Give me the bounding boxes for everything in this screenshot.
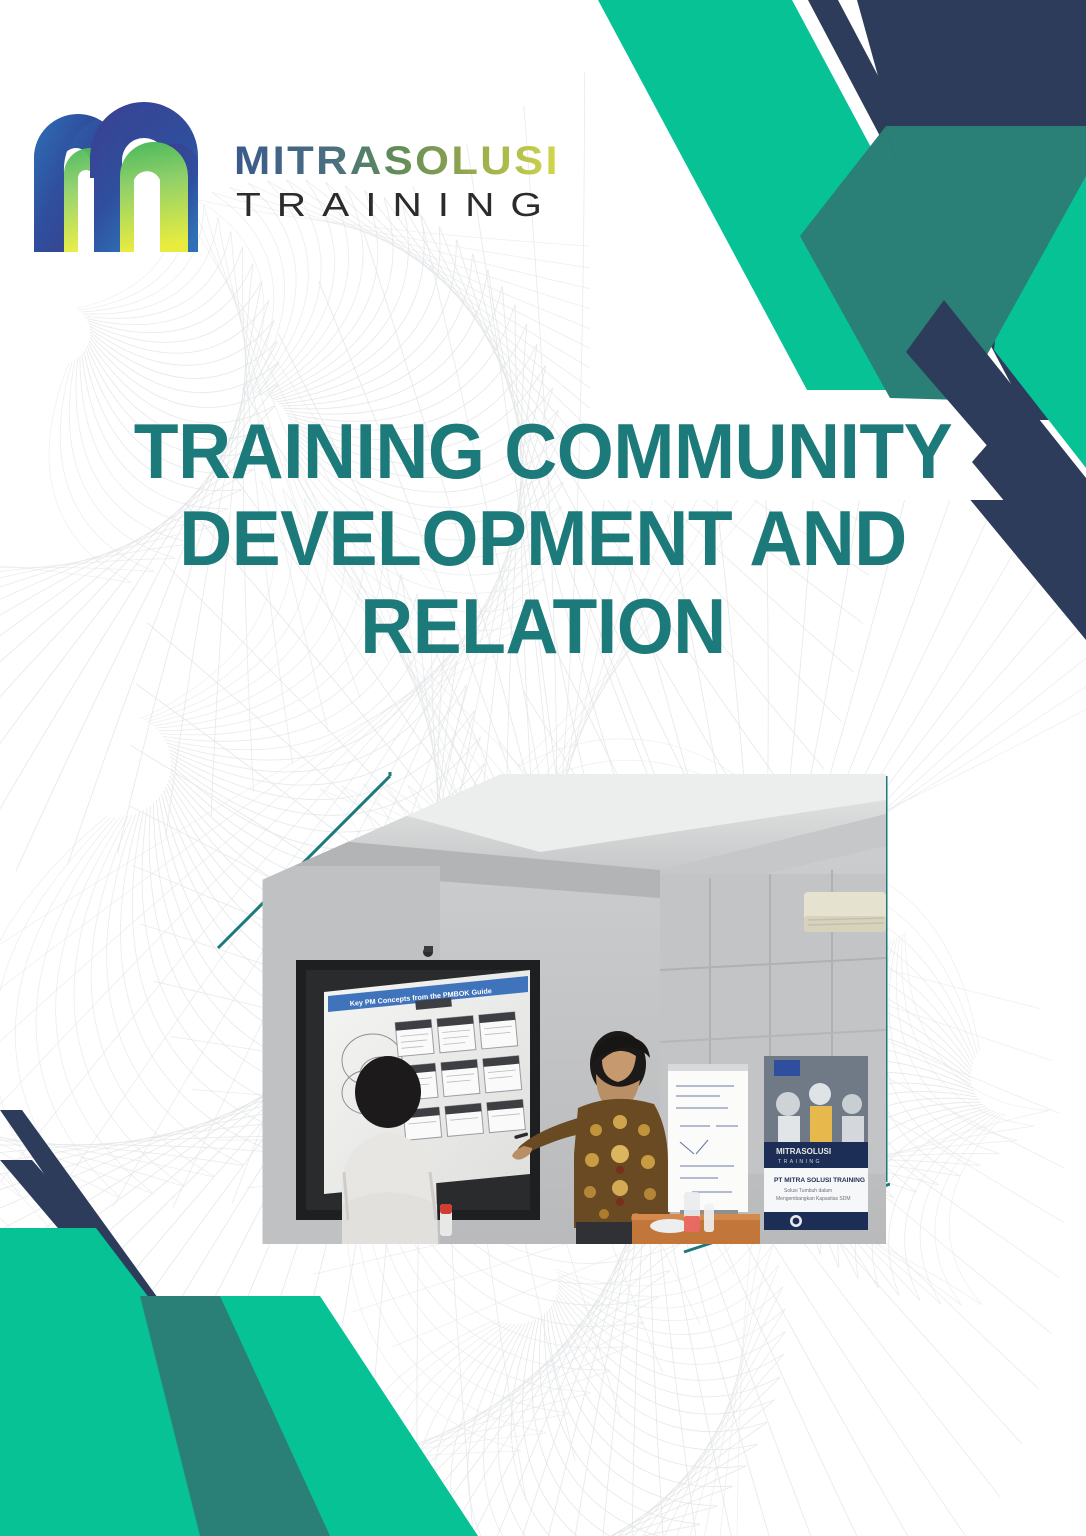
decor-teal-chevron-l <box>800 126 963 400</box>
green-slab-right <box>1012 140 1086 470</box>
page-title: TRAINING COMMUNITY DEVELOPMENT AND RELAT… <box>89 408 997 670</box>
cover-photo-block: Key PM Concepts from the PMBOK Guide <box>214 762 890 1262</box>
logo-wordmark-group: MITRASOLUSI TRAINING <box>234 136 564 226</box>
decor-navy-block <box>857 0 1086 300</box>
teal-chevron-left <box>806 122 960 400</box>
teal-chevron <box>878 122 1086 400</box>
banner-tagline-line2: Mengembangkan Kapasitas SDM <box>776 1196 851 1202</box>
logo-subtext-training: TRAINING <box>234 186 564 226</box>
navy-wedge-top <box>860 0 1086 470</box>
decor-teal-chevron <box>886 126 1086 400</box>
decor-navy-stripe <box>808 0 1060 420</box>
decor-teal-overlap-bl <box>140 1296 330 1536</box>
logo-subtext: TRAINING <box>236 186 558 223</box>
green-slab-top <box>598 0 1000 398</box>
banner-company-text: PT MITRA SOLUSI TRAINING <box>774 1177 865 1184</box>
decor-green-br <box>140 1296 478 1536</box>
banner-subtitle-text: TRAINING <box>778 1159 822 1165</box>
brand-logo: MITRASOLUSI TRAINING <box>28 92 568 262</box>
logo-wordmark-text: MITRASOLUSI <box>234 139 560 183</box>
banner-tagline-line1: Solusi Tumbuh dalam <box>784 1188 832 1194</box>
navy-thin-stripe-top <box>808 0 1052 420</box>
banner-title-text: MITRASOLUSI <box>776 1147 831 1156</box>
photo-rollup-banner: MITRASOLUSI TRAINING PT MITRA SOLUSI TRA… <box>764 1056 868 1244</box>
brochure-cover-page: MITRASOLUSI TRAINING TRAINING COMMUNITY … <box>0 0 1086 1536</box>
logo-wordmark-mitrasolusi: MITRASOLUSI <box>234 136 564 184</box>
mitra-solusi-m-monogram-icon <box>28 92 228 257</box>
decor-navy-block-b <box>857 0 1000 250</box>
decor-green-right <box>994 132 1086 468</box>
decor-green-bl <box>0 1228 330 1536</box>
decor-green-left <box>598 0 1001 390</box>
